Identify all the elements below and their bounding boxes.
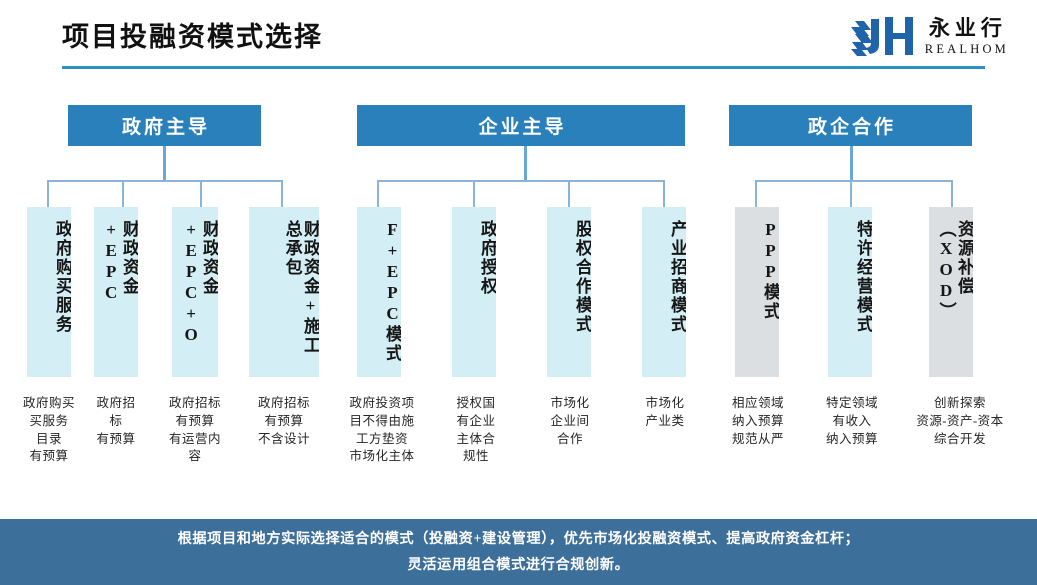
node-caption: 政府招标 有预算 不含设计 <box>245 395 323 448</box>
node-label: 财政资金+施工总承包 <box>249 207 319 377</box>
node-box-resource-compensation-xod[interactable]: 资源补偿（XOD） <box>929 207 973 377</box>
group-header-government-led[interactable]: 政府主导 <box>68 105 261 146</box>
connector-drop-g1-n4 <box>281 180 283 207</box>
connector-trunk-group3 <box>850 146 853 181</box>
connector-drop-g2-n3 <box>568 180 570 207</box>
node-box-industry-investment-mode[interactable]: 产业招商模式 <box>642 207 686 377</box>
node-caption: 创新探索 资源-资产-资本 综合开发 <box>912 395 1008 448</box>
connector-bus-group2 <box>377 180 664 182</box>
connector-drop-g1-n1 <box>47 180 49 207</box>
node-label: 政府授权 <box>452 207 496 377</box>
summary-banner: 根据项目和地方实际选择适合的模式（投融资+建设管理），优先市场化投融资模式、提高… <box>0 519 1037 585</box>
node-box-fiscal-fund-epc-o[interactable]: 财政资金+EPC+O <box>172 207 218 377</box>
connector-drop-g1-n3 <box>200 180 202 207</box>
node-label: 产业招商模式 <box>642 207 686 377</box>
node-caption: 特定领域 有收入 纳入预算 <box>818 395 886 448</box>
node-label: 特许经营模式 <box>828 207 872 377</box>
node-box-government-purchase-service[interactable]: 政府购买服务 <box>27 207 71 377</box>
node-label: 政府购买服务 <box>27 207 71 377</box>
node-box-fiscal-fund-epc[interactable]: 财政资金+EPC <box>94 207 138 377</box>
node-box-government-authorization[interactable]: 政府授权 <box>452 207 496 377</box>
node-caption: 市场化 产业类 <box>632 395 698 431</box>
node-caption: 政府投资项 目不得由施 工方垫资 市场化主体 <box>340 395 424 466</box>
node-label: 财政资金+EPC+O <box>172 207 218 377</box>
node-caption: 市场化 企业间 合作 <box>537 395 603 448</box>
node-caption: 授权国 有企业 主体合 规性 <box>443 395 509 466</box>
node-box-ppp-mode[interactable]: PPP模式 <box>735 207 779 377</box>
connector-drop-g3-n2 <box>850 180 852 207</box>
summary-banner-text: 根据项目和地方实际选择适合的模式（投融资+建设管理），优先市场化投融资模式、提高… <box>178 526 860 579</box>
connector-bus-group1 <box>47 180 282 182</box>
connector-drop-g2-n2 <box>473 180 475 207</box>
connector-trunk-group2 <box>524 146 527 181</box>
node-box-franchise-operation-mode[interactable]: 特许经营模式 <box>828 207 872 377</box>
group-header-enterprise-led[interactable]: 企业主导 <box>357 105 685 146</box>
node-label: PPP模式 <box>735 207 779 377</box>
group-header-ppp-cooperation[interactable]: 政企合作 <box>729 105 972 146</box>
connector-drop-g1-n2 <box>122 180 124 207</box>
node-box-f-epc-mode[interactable]: F+EPC模式 <box>357 207 401 377</box>
node-box-equity-cooperation-mode[interactable]: 股权合作模式 <box>547 207 591 377</box>
node-label: 股权合作模式 <box>547 207 591 377</box>
connector-drop-g2-n4 <box>663 180 665 207</box>
mode-selection-diagram: 政府主导 政府购买服务 政府购买 买服务 目录 有预算 财政资金+EPC 政府招… <box>0 0 1037 520</box>
connector-drop-g2-n1 <box>377 180 379 207</box>
connector-drop-g3-n3 <box>951 180 953 207</box>
node-label: F+EPC模式 <box>357 207 401 377</box>
node-label: 财政资金+EPC <box>94 207 138 377</box>
node-caption: 政府招标 有预算 有运营内 容 <box>156 395 234 466</box>
connector-drop-g3-n1 <box>755 180 757 207</box>
node-caption: 政府招 标 有预算 <box>83 395 149 448</box>
connector-trunk-group1 <box>163 146 166 181</box>
node-box-fiscal-fund-general-contracting[interactable]: 财政资金+施工总承包 <box>249 207 319 377</box>
connector-bus-group3 <box>755 180 952 182</box>
node-caption: 相应领域 纳入预算 规范从严 <box>722 395 794 448</box>
node-label: 资源补偿（XOD） <box>929 207 973 377</box>
node-caption: 政府购买 买服务 目录 有预算 <box>14 395 84 466</box>
